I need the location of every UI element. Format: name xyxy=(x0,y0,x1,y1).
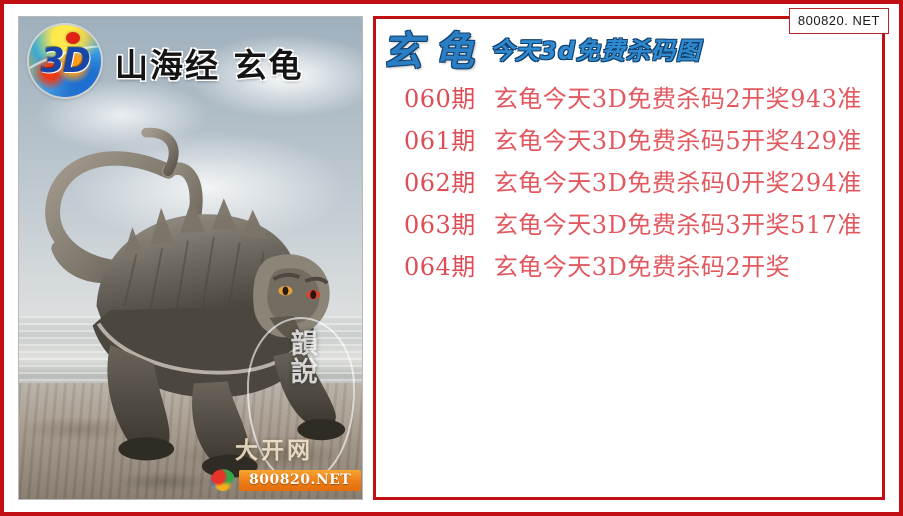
row-body: 玄龟今天3D免费杀码5开奖429准 xyxy=(494,121,862,156)
row-issue: 062期 xyxy=(404,163,476,198)
results-list: 060期 玄龟今天3D免费杀码2开奖943准 061期 玄龟今天3D免费杀码5开… xyxy=(376,77,882,289)
row-issue: 061期 xyxy=(404,121,476,156)
row-issue: 060期 xyxy=(404,79,476,114)
table-row: 061期 玄龟今天3D免费杀码5开奖429准 xyxy=(376,121,882,163)
row-body: 玄龟今天3D免费杀码2开奖943准 xyxy=(494,79,862,114)
row-body: 玄龟今天3D免费杀码2开奖 xyxy=(494,247,790,282)
table-row: 060期 玄龟今天3D免费杀码2开奖943准 xyxy=(376,79,882,121)
logo-3d-text: 3D xyxy=(29,25,101,97)
site-badge: 800820. NET xyxy=(789,8,889,34)
row-body: 玄龟今天3D免费杀码0开奖294准 xyxy=(494,163,862,198)
results-header-subtitle: 今天3d免费杀码图 xyxy=(490,31,701,66)
illustration-title: 山海经 玄龟 xyxy=(115,39,304,87)
table-row: 063期 玄龟今天3D免费杀码3开奖517准 xyxy=(376,205,882,247)
row-issue: 064期 xyxy=(404,247,476,282)
3d-logo-icon: 3D xyxy=(29,25,101,97)
row-body: 玄龟今天3D免费杀码3开奖517准 xyxy=(494,205,862,240)
table-row: 062期 玄龟今天3D免费杀码0开奖294准 xyxy=(376,163,882,205)
results-header-title: 玄龟 xyxy=(382,19,486,77)
page-root: 3D 山海经 玄龟 韻說 大开网 800820.NET 玄龟 今天3d免费杀码图 xyxy=(0,0,903,516)
results-panel: 玄龟 今天3d免费杀码图 060期 玄龟今天3D免费杀码2开奖943准 061期… xyxy=(373,16,885,500)
illustration-panel: 3D 山海经 玄龟 韻說 大开网 800820.NET xyxy=(18,16,363,500)
row-issue: 063期 xyxy=(404,205,476,240)
page-inner: 3D 山海经 玄龟 韻說 大开网 800820.NET 玄龟 今天3d免费杀码图 xyxy=(8,8,895,508)
table-row: 064期 玄龟今天3D免费杀码2开奖 xyxy=(376,247,882,289)
